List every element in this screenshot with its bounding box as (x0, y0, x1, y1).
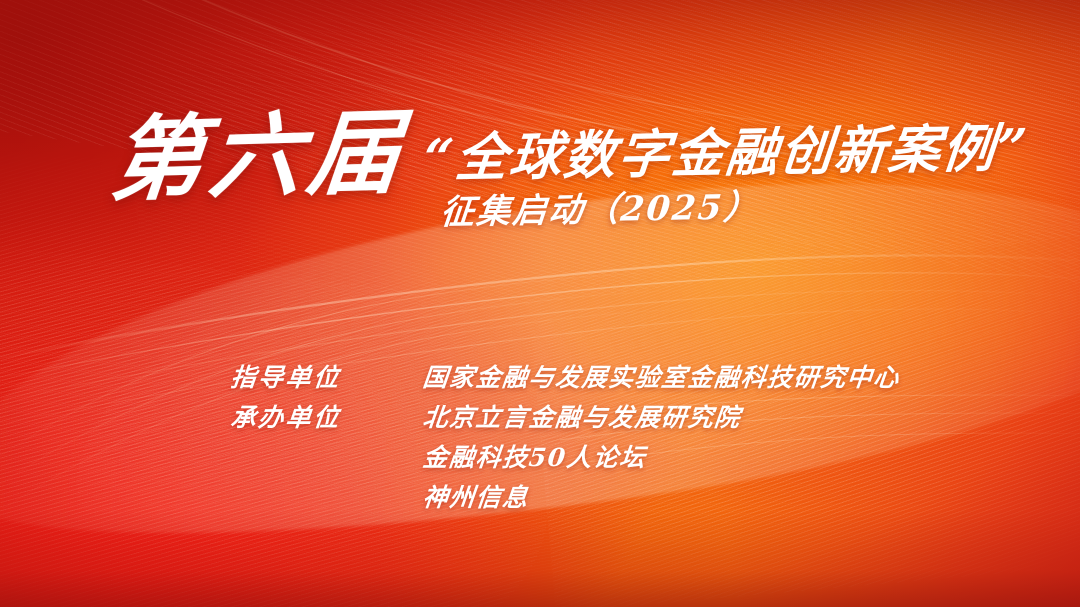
credit-label: 承办单位 (229, 398, 425, 434)
subtitle-text: 征集启动（2025） (438, 179, 761, 234)
credit-value: 北京立言金融与发展研究院 (421, 398, 743, 434)
poster-canvas: 第六届 “全球数字金融创新案例” 征集启动（2025） 指导单位 国家金融与发展… (0, 0, 1080, 607)
credits-block: 指导单位 国家金融与发展实验室金融科技研究中心 承办单位 北京立言金融与发展研究… (231, 358, 900, 518)
credit-row: 金融科技50人论坛 (231, 438, 900, 478)
credit-row: 指导单位 国家金融与发展实验室金融科技研究中心 (231, 358, 900, 398)
credit-value: 金融科技50人论坛 (421, 438, 648, 474)
quoted-main-title: “全球数字金融创新案例” (421, 123, 1030, 186)
credit-row: 神州信息 (231, 478, 900, 518)
subtitle-row: 征集启动（2025） (0, 182, 1080, 231)
poster-content: 第六届 “全球数字金融创新案例” 征集启动（2025） 指导单位 国家金融与发展… (0, 0, 1080, 607)
credit-label: 指导单位 (229, 358, 425, 394)
credit-row: 承办单位 北京立言金融与发展研究院 (231, 398, 900, 438)
credit-value: 国家金融与发展实验室金融科技研究中心 (421, 358, 902, 394)
credit-value: 神州信息 (421, 478, 531, 514)
